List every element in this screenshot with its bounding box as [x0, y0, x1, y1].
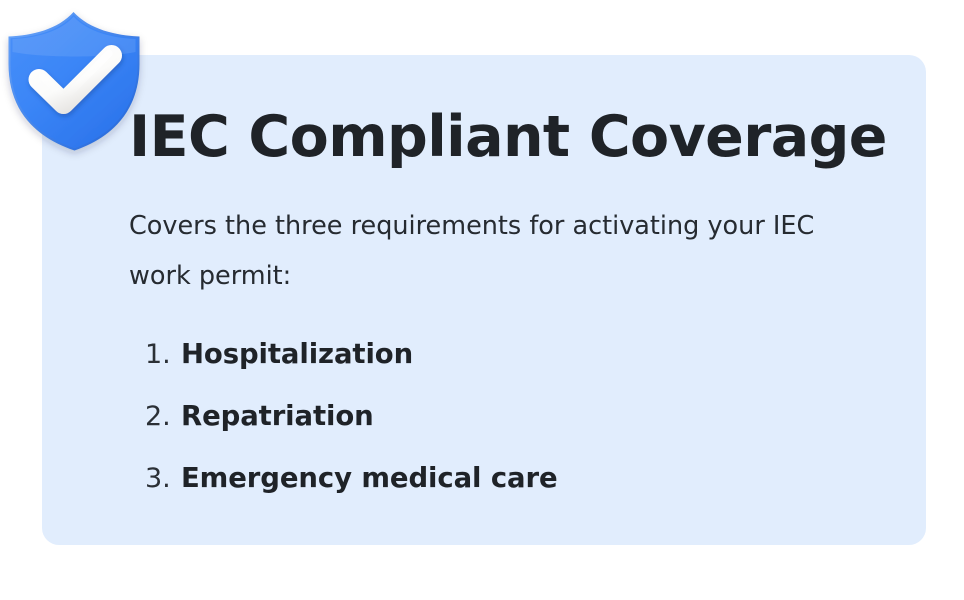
list-item-label: Repatriation: [181, 385, 374, 447]
iec-coverage-card: IEC Compliant Coverage Covers the three …: [42, 55, 926, 545]
page-title: IEC Compliant Coverage: [129, 103, 887, 171]
list-item-label: Emergency medical care: [181, 447, 558, 509]
list-item: 3. Emergency medical care: [145, 447, 558, 509]
page-canvas: IEC Compliant Coverage Covers the three …: [0, 0, 964, 600]
list-item-label: Hospitalization: [181, 323, 413, 385]
card-intro-text: Covers the three requirements for activa…: [129, 201, 859, 301]
list-item-number: 3.: [145, 448, 181, 510]
list-item: 2. Repatriation: [145, 385, 558, 447]
requirements-list: 1. Hospitalization 2. Repatriation 3. Em…: [145, 323, 558, 509]
list-item-number: 2.: [145, 386, 181, 448]
list-item: 1. Hospitalization: [145, 323, 558, 385]
list-item-number: 1.: [145, 324, 181, 386]
